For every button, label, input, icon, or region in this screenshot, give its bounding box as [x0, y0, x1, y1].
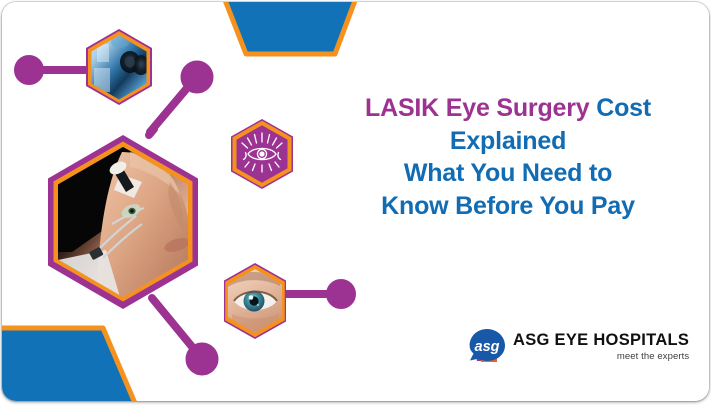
asg-logo-name: ASG EYE HOSPITALS	[513, 332, 689, 349]
connector-dot-right	[330, 283, 352, 305]
title-line-4: Know Before You Pay	[324, 190, 692, 223]
title-line-2: Explained	[324, 125, 692, 158]
asg-logo-tagline: meet the experts	[513, 351, 689, 362]
asg-logo-text: ASG EYE HOSPITALS meet the experts	[513, 332, 689, 362]
title-line-1-blue: Cost	[596, 94, 651, 122]
banner-card: LASIK Eye Surgery Cost Explained What Yo…	[2, 2, 709, 401]
connector-dot-topright	[185, 65, 210, 90]
connector-dot-left	[18, 59, 40, 81]
asg-logo: asg ASG EYE HOSPITALS meet the experts	[467, 327, 689, 367]
asg-logo-mark: asg	[467, 327, 509, 367]
asg-logo-mark-text: asg	[475, 339, 500, 355]
title-line-1-purple: LASIK Eye Surgery	[365, 94, 596, 122]
title-line-1: LASIK Eye Surgery Cost	[324, 92, 692, 125]
title-line-3: What You Need to	[324, 157, 692, 190]
connector-dot-bottom	[190, 347, 215, 372]
title-block: LASIK Eye Surgery Cost Explained What Yo…	[324, 92, 692, 222]
